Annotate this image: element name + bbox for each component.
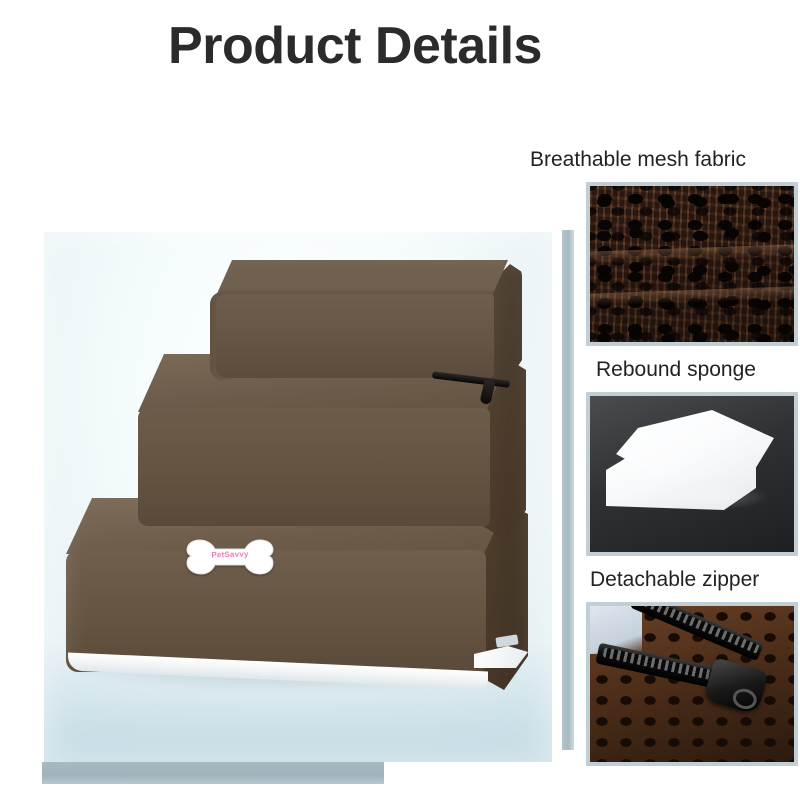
feature-label-detachable-zipper: Detachable zipper bbox=[590, 568, 800, 592]
product-details-page: Product Details bbox=[0, 0, 800, 800]
bone-logo-patch: PetSavvy bbox=[184, 534, 276, 580]
feature-label-rebound-sponge-wrap: Rebound sponge bbox=[596, 358, 800, 388]
feature-label-detachable-zipper-wrap: Detachable zipper bbox=[590, 568, 800, 598]
vertical-accent-bar bbox=[562, 230, 574, 750]
feature-label-breathable-mesh-fabric-wrap: Breathable mesh fabric bbox=[530, 148, 800, 178]
feature-image-breathable-mesh-fabric bbox=[586, 182, 798, 346]
horizontal-accent-bar bbox=[42, 762, 384, 784]
step3-front-face bbox=[216, 294, 494, 378]
step3-tread bbox=[216, 260, 508, 296]
page-title: Product Details bbox=[0, 16, 710, 76]
mesh-hole-row-b bbox=[590, 186, 794, 342]
hero-product-image: PetSavvy bbox=[44, 232, 552, 762]
pet-stairs-illustration: PetSavvy bbox=[44, 232, 552, 762]
step1-front-face bbox=[66, 550, 486, 672]
feature-image-rebound-sponge bbox=[586, 392, 798, 556]
feature-image-detachable-zipper bbox=[586, 602, 798, 766]
step2-front-face bbox=[138, 408, 490, 526]
feature-label-breathable-mesh-fabric: Breathable mesh fabric bbox=[530, 148, 800, 172]
foam-highlight bbox=[660, 484, 770, 510]
feature-label-rebound-sponge: Rebound sponge bbox=[596, 358, 800, 382]
